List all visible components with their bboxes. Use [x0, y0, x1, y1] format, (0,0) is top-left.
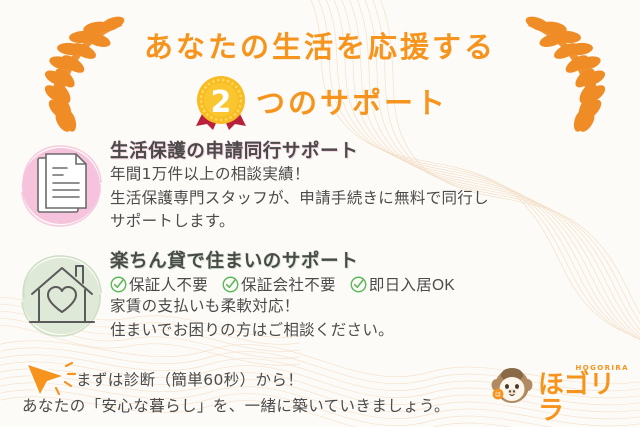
- click-cursor-icon: [22, 360, 80, 398]
- brand-wordmark: HOGORIRA ほゴリラ: [538, 363, 630, 407]
- support-1-line-2: 生活保護専門スタッフが、申請手続きに無料で同行し: [110, 187, 489, 211]
- check-label-1: 保証人不要: [129, 273, 208, 295]
- check-circle-icon: [110, 276, 127, 293]
- support-2-body: 楽ちん貸で住まいのサポート 保証人不要 保証会社不要: [110, 246, 455, 342]
- headline-line-1: あなたの生活を応援する: [0, 24, 640, 66]
- footer-line-2: あなたの「安心な暮らし」を、一緒に築いていきましょう。: [22, 394, 450, 416]
- support-2-line-2: 住まいでお困りの方はご相談ください。: [110, 319, 455, 343]
- medal-number: 2: [192, 72, 250, 130]
- support-2-title: 楽ちん貸で住まいのサポート: [110, 250, 455, 273]
- support-2-line-1: 家賃の支払いも柔軟対応！: [110, 295, 455, 319]
- check-circle-icon: [222, 276, 239, 293]
- check-item-1: 保証人不要: [110, 273, 208, 295]
- support-1-line-3: サポートします。: [110, 210, 489, 234]
- headline-line-2-row: 2 つのサポート: [0, 72, 640, 130]
- footer-line-1: まずは診断（簡単60秒）から！: [76, 368, 303, 390]
- support-1-line-1: 年間1万件以上の相談実績！: [110, 163, 489, 187]
- gorilla-mascot-icon: ほ: [490, 363, 534, 407]
- award-medal-icon: 2: [192, 72, 250, 130]
- check-item-2: 保証会社不要: [222, 273, 336, 295]
- support-item-2: 楽ちん貸で住まいのサポート 保証人不要 保証会社不要: [0, 246, 640, 346]
- documents-icon: [14, 136, 110, 236]
- check-circle-icon: [350, 276, 367, 293]
- check-label-2: 保証会社不要: [241, 273, 336, 295]
- support-2-check-row: 保証人不要 保証会社不要 即日入居OK: [110, 273, 455, 295]
- brand-logo[interactable]: ほ HOGORIRA ほゴリラ: [490, 363, 630, 407]
- headline-line-2: つのサポート: [256, 80, 448, 122]
- header: あなたの生活を応援する 2 つのサポート: [0, 0, 640, 128]
- house-heart-icon: [14, 246, 110, 346]
- support-1-title: 生活保護の申請同行サポート: [110, 140, 489, 163]
- check-item-3: 即日入居OK: [350, 273, 455, 295]
- support-1-body: 生活保護の申請同行サポート 年間1万件以上の相談実績！ 生活保護専門スタッフが、…: [110, 136, 489, 234]
- svg-text:ほ: ほ: [495, 392, 501, 399]
- poster-canvas: あなたの生活を応援する 2 つのサポート: [0, 0, 640, 427]
- support-item-1: 生活保護の申請同行サポート 年間1万件以上の相談実績！ 生活保護専門スタッフが、…: [0, 136, 640, 236]
- check-label-3: 即日入居OK: [369, 273, 455, 295]
- footer: まずは診断（簡単60秒）から！ あなたの「安心な暮らし」を、一緒に築いていきまし…: [0, 357, 640, 427]
- brand-name-jp: ほゴリラ: [538, 372, 630, 424]
